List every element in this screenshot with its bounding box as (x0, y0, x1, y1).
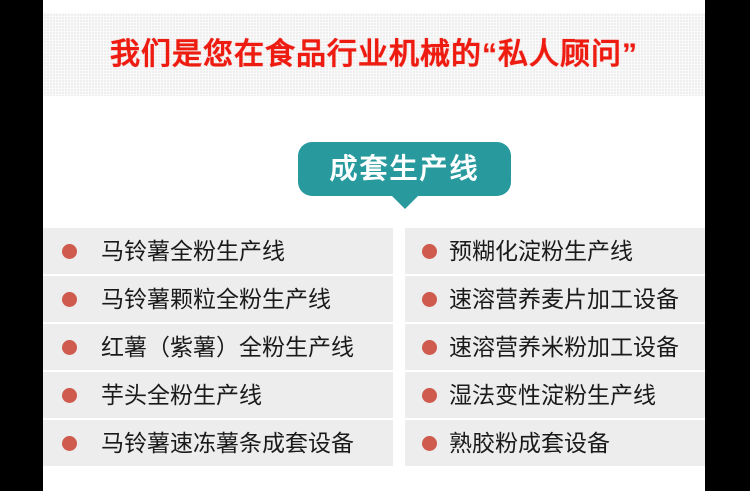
list-item-label: 速溶营养麦片加工设备 (449, 288, 679, 311)
bullet-icon (422, 388, 437, 403)
product-list-left: 马铃薯全粉生产线 马铃薯颗粒全粉生产线 红薯（紫薯）全粉生产线 芋头全粉生产线 … (43, 228, 393, 466)
list-item[interactable]: 速溶营养米粉加工设备 (405, 324, 705, 370)
bullet-icon (422, 244, 437, 259)
list-item-label: 湿法变性淀粉生产线 (449, 384, 656, 407)
list-item[interactable]: 预糊化淀粉生产线 (405, 228, 705, 274)
bullet-icon (62, 292, 77, 307)
section-ribbon: 成套生产线 (298, 142, 511, 196)
list-item-label: 马铃薯全粉生产线 (101, 240, 285, 263)
bullet-icon (422, 340, 437, 355)
page-root: 我们是您在食品行业机械的“私人顾问” 成套生产线 马铃薯全粉生产线 马铃薯颗粒全… (0, 0, 750, 491)
list-item[interactable]: 芋头全粉生产线 (43, 372, 393, 418)
bullet-icon (62, 244, 77, 259)
list-item[interactable]: 马铃薯全粉生产线 (43, 228, 393, 274)
list-item-label: 预糊化淀粉生产线 (449, 240, 633, 263)
bullet-icon (422, 292, 437, 307)
list-item-label: 芋头全粉生产线 (101, 384, 262, 407)
bullet-icon (62, 436, 77, 451)
ribbon-body: 成套生产线 (298, 142, 511, 196)
bullet-icon (62, 388, 77, 403)
list-item-label: 红薯（紫薯）全粉生产线 (101, 336, 354, 359)
list-item[interactable]: 马铃薯速冻薯条成套设备 (43, 420, 393, 466)
list-item-label: 马铃薯速冻薯条成套设备 (101, 432, 354, 455)
list-item[interactable]: 红薯（紫薯）全粉生产线 (43, 324, 393, 370)
list-item-label: 马铃薯颗粒全粉生产线 (101, 288, 331, 311)
list-item[interactable]: 湿法变性淀粉生产线 (405, 372, 705, 418)
bullet-icon (422, 436, 437, 451)
header-band: 我们是您在食品行业机械的“私人顾问” (43, 13, 705, 96)
list-item[interactable]: 熟胶粉成套设备 (405, 420, 705, 466)
list-item[interactable]: 速溶营养麦片加工设备 (405, 276, 705, 322)
product-list-right: 预糊化淀粉生产线 速溶营养麦片加工设备 速溶营养米粉加工设备 湿法变性淀粉生产线… (405, 228, 705, 466)
bullet-icon (62, 340, 77, 355)
list-item-label: 速溶营养米粉加工设备 (449, 336, 679, 359)
list-item-label: 熟胶粉成套设备 (449, 432, 610, 455)
page-title: 我们是您在食品行业机械的“私人顾问” (110, 40, 638, 70)
product-lists: 马铃薯全粉生产线 马铃薯颗粒全粉生产线 红薯（紫薯）全粉生产线 芋头全粉生产线 … (43, 228, 705, 466)
content-canvas: 我们是您在食品行业机械的“私人顾问” 成套生产线 马铃薯全粉生产线 马铃薯颗粒全… (43, 0, 705, 491)
ribbon-pointer-icon (392, 196, 418, 209)
ribbon-label: 成套生产线 (329, 155, 479, 183)
list-item[interactable]: 马铃薯颗粒全粉生产线 (43, 276, 393, 322)
